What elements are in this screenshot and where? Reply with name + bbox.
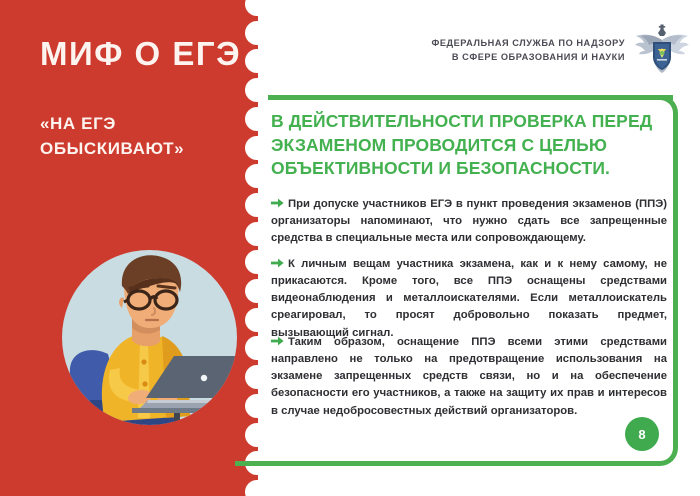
student-with-laptop-illustration	[62, 250, 237, 425]
scallop-notch	[245, 164, 258, 188]
scallop-notch	[245, 394, 258, 418]
frame-right-bar	[673, 118, 678, 446]
scallop-notch	[245, 279, 258, 303]
scallop-notch	[245, 136, 258, 160]
organization-name: ФЕДЕРАЛЬНАЯ СЛУЖБА ПО НАДЗОРУ В СФЕРЕ ОБ…	[400, 36, 625, 65]
scallop-notch	[245, 250, 258, 274]
rosobrnadzor-winged-emblem-logo	[633, 24, 691, 74]
paragraph-3-text: Таким образом, оснащение ППЭ всеми этими…	[271, 336, 667, 417]
scallop-notch	[245, 423, 258, 447]
paragraph-2-text: К личным вещам участника экзамена, как и…	[271, 258, 667, 339]
paragraph-1-text: При допуске участников ЕГЭ в пункт прове…	[271, 198, 667, 244]
scallop-notch	[245, 336, 258, 360]
frame-top-bar	[268, 95, 673, 100]
scallop-notch	[245, 0, 258, 16]
scallop-notch	[245, 308, 258, 332]
content-headline: В ДЕЙСТВИТЕЛЬНОСТИ ПРОВЕРКА ПЕРЕД ЭКЗАМЕ…	[271, 110, 663, 181]
scallop-notch	[245, 480, 258, 496]
frame-bottom-bar	[235, 461, 660, 466]
organization-line-2: В СФЕРЕ ОБРАЗОВАНИЯ И НАУКИ	[400, 50, 625, 64]
green-right-arrow-icon	[271, 336, 288, 346]
myth-subtitle: «НА ЕГЭ ОБЫСКИВАЮТ»	[40, 112, 240, 161]
content-paragraph-1: При допуске участников ЕГЭ в пункт прове…	[271, 196, 667, 247]
content-paragraph-2: К личным вещам участника экзамена, как и…	[271, 256, 667, 342]
scallop-notch	[245, 107, 258, 131]
scallop-notch	[245, 193, 258, 217]
green-right-arrow-icon	[271, 198, 288, 208]
myth-title: МИФ О ЕГЭ	[40, 36, 250, 72]
scallop-notch	[245, 222, 258, 246]
content-paragraph-3: Таким образом, оснащение ППЭ всеми этими…	[271, 334, 667, 420]
page-number-badge: 8	[625, 417, 659, 451]
scallop-notch	[245, 78, 258, 102]
organization-line-1: ФЕДЕРАЛЬНАЯ СЛУЖБА ПО НАДЗОРУ	[400, 36, 625, 50]
scallop-notch	[245, 365, 258, 389]
slide-canvas: МИФ О ЕГЭ «НА ЕГЭ ОБЫСКИВАЮТ»	[0, 0, 700, 496]
green-right-arrow-icon	[271, 258, 288, 268]
